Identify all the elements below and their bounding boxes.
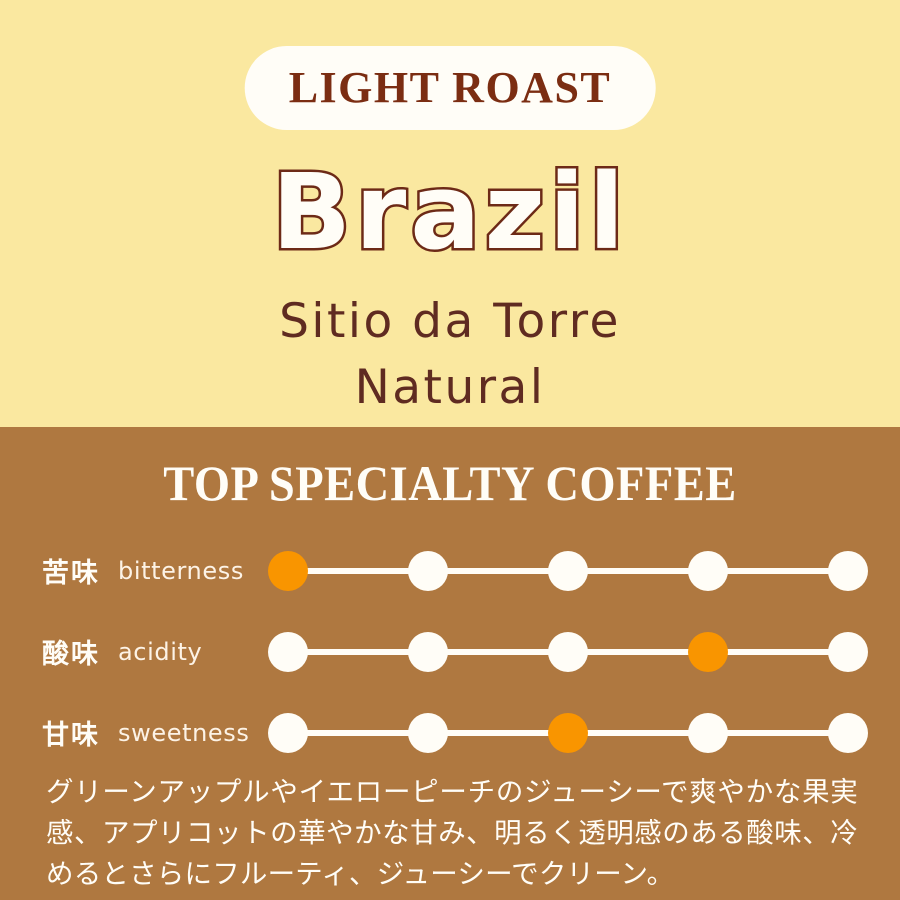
taste-meter-dot-4[interactable] <box>688 551 728 591</box>
taste-meter-dot-5[interactable] <box>828 551 868 591</box>
taste-meter-dot-2[interactable] <box>408 713 448 753</box>
taste-meter-list: 苦味bitterness酸味acidity甘味sweetness <box>0 530 900 773</box>
farm-name: Sitio da Torre <box>0 298 900 345</box>
tasting-profile-section: TOP SPECIALTY COFFEE 苦味bitterness酸味acidi… <box>0 427 900 900</box>
taste-label-ja: 酸味 <box>42 632 100 671</box>
taste-label-en: acidity <box>118 638 202 666</box>
taste-meter-scale-sweetness[interactable] <box>268 692 868 773</box>
origin-header-section: LIGHT ROAST Brazil Sitio da Torre Natura… <box>0 0 900 427</box>
coffee-label-card: LIGHT ROAST Brazil Sitio da Torre Natura… <box>0 0 900 900</box>
taste-meter-row-sweetness: 甘味sweetness <box>0 692 900 773</box>
taste-meter-dot-5[interactable] <box>828 632 868 672</box>
specialty-coffee-heading: TOP SPECIALTY COFFEE <box>32 458 869 508</box>
roast-level-label: LIGHT ROAST <box>289 66 612 110</box>
taste-label-en: bitterness <box>118 557 244 585</box>
tasting-notes-text: グリーンアップルやイエローピーチのジューシーで爽やかな果実感、アプリコットの華や… <box>46 772 858 895</box>
taste-meter-scale-acidity[interactable] <box>268 611 868 692</box>
taste-meter-label-group: 苦味bitterness <box>42 530 244 611</box>
process-method: Natural <box>0 364 900 411</box>
taste-meter-dot-2[interactable] <box>408 551 448 591</box>
origin-country-title: Brazil <box>0 160 900 264</box>
taste-label-ja: 甘味 <box>42 713 100 752</box>
taste-meter-label-group: 酸味acidity <box>42 611 202 692</box>
taste-meter-scale-bitterness[interactable] <box>268 530 868 611</box>
taste-meter-dot-5[interactable] <box>828 713 868 753</box>
taste-meter-dot-3[interactable] <box>548 713 588 753</box>
taste-meter-row-acidity: 酸味acidity <box>0 611 900 692</box>
taste-meter-dot-1[interactable] <box>268 713 308 753</box>
roast-level-badge: LIGHT ROAST <box>245 46 656 130</box>
taste-meter-dot-4[interactable] <box>688 632 728 672</box>
taste-meter-dot-3[interactable] <box>548 632 588 672</box>
taste-label-en: sweetness <box>118 719 249 747</box>
taste-meter-dot-4[interactable] <box>688 713 728 753</box>
taste-meter-dot-1[interactable] <box>268 551 308 591</box>
taste-meter-dot-3[interactable] <box>548 551 588 591</box>
taste-meter-dot-2[interactable] <box>408 632 448 672</box>
taste-meter-label-group: 甘味sweetness <box>42 692 249 773</box>
taste-meter-row-bitterness: 苦味bitterness <box>0 530 900 611</box>
taste-label-ja: 苦味 <box>42 551 100 590</box>
taste-meter-dot-1[interactable] <box>268 632 308 672</box>
